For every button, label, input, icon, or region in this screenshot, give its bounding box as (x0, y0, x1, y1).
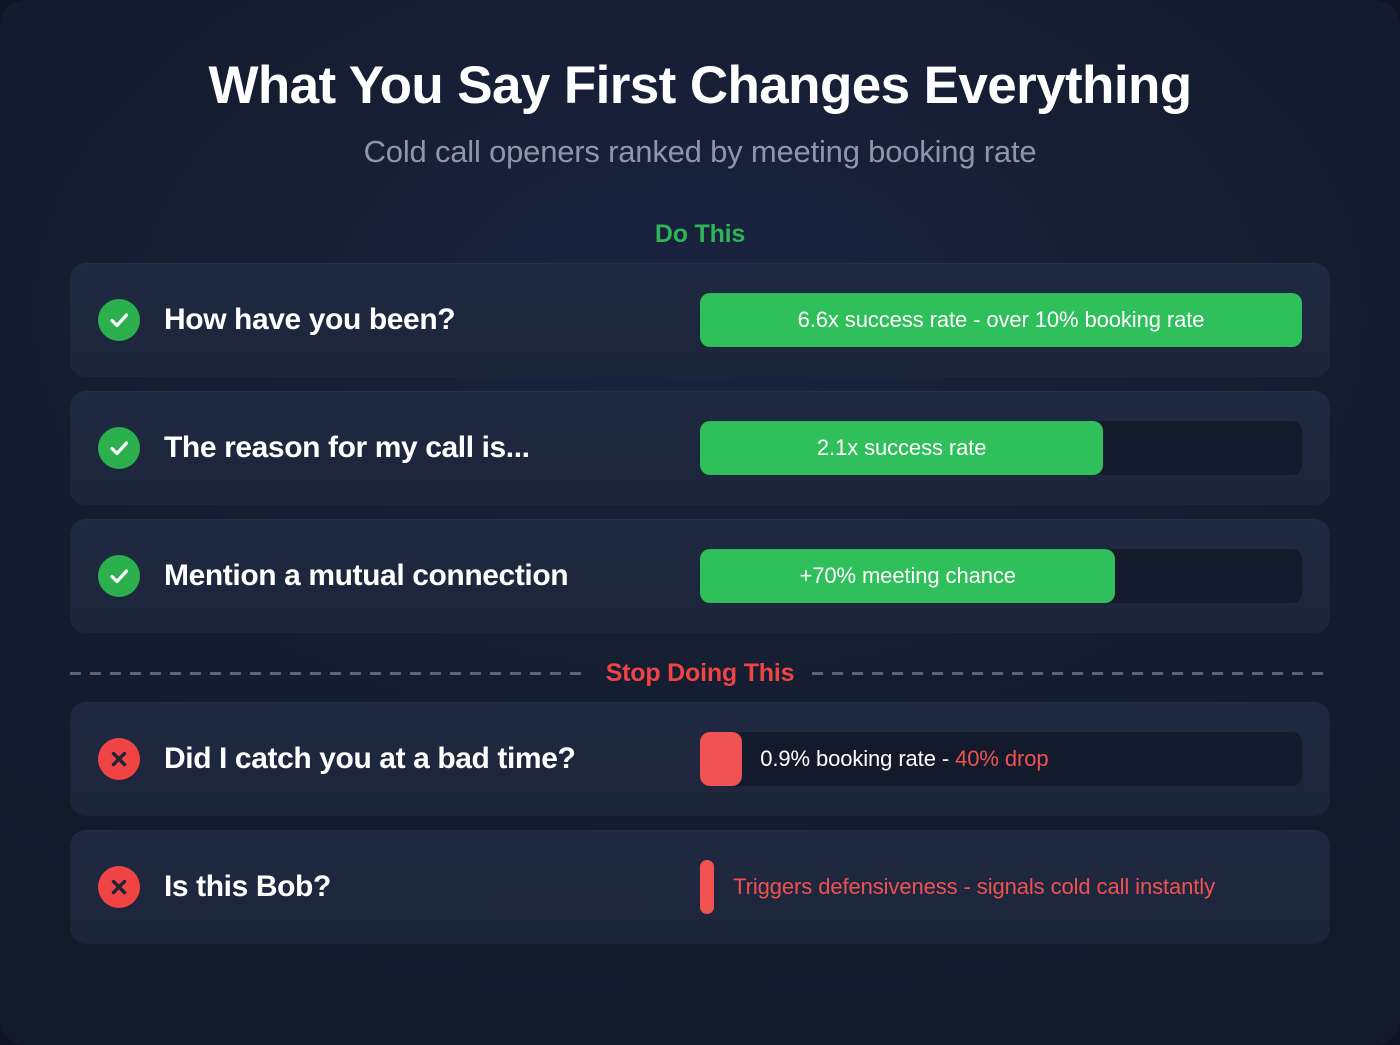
meter: 2.1x success rate (700, 421, 1302, 475)
meter-value-accent: Triggers defensiveness - signals cold ca… (733, 874, 1215, 899)
list-item[interactable]: How have you been? 6.6x success rate - o… (70, 263, 1330, 377)
page-subtitle: Cold call openers ranked by meeting book… (0, 134, 1400, 170)
opener-label: The reason for my call is... (164, 431, 530, 465)
check-circle-icon (98, 427, 140, 469)
meter-value-label: 2.1x success rate (801, 435, 1003, 461)
meter-fill: 6.6x success rate - over 10% booking rat… (700, 293, 1302, 347)
page-title: What You Say First Changes Everything (0, 58, 1400, 114)
infographic-page: What You Say First Changes Everything Co… (0, 0, 1400, 1045)
x-circle-icon (98, 866, 140, 908)
meter-fill: +70% meeting chance (700, 549, 1115, 603)
meter: Triggers defensiveness - signals cold ca… (700, 860, 1302, 914)
meter: +70% meeting chance (700, 549, 1302, 603)
meter-value-accent: 40% drop (955, 746, 1048, 771)
meter-fill (700, 732, 742, 786)
opener-label: Did I catch you at a bad time? (164, 742, 575, 776)
list-item[interactable]: Did I catch you at a bad time? 0.9% book… (70, 702, 1330, 816)
meter-value-plain: 0.9% booking rate - (760, 746, 955, 771)
meter-value-label: 0.9% booking rate - 40% drop (760, 746, 1048, 772)
meter-value-label: 6.6x success rate - over 10% booking rat… (782, 307, 1221, 333)
section-label-bad: Stop Doing This (606, 659, 795, 688)
x-circle-icon (98, 738, 140, 780)
meter-value-label: Triggers defensiveness - signals cold ca… (733, 874, 1215, 900)
divider-dash-left (70, 672, 588, 675)
meter: 0.9% booking rate - 40% drop (700, 732, 1302, 786)
check-circle-icon (98, 555, 140, 597)
meter: 6.6x success rate - over 10% booking rat… (700, 293, 1302, 347)
check-circle-icon (98, 299, 140, 341)
list-item[interactable]: Is this Bob? Triggers defensiveness - si… (70, 830, 1330, 944)
section-divider: Stop Doing This (70, 659, 1330, 688)
opener-label: How have you been? (164, 303, 455, 337)
opener-label: Is this Bob? (164, 870, 331, 904)
divider-dash-right (812, 672, 1330, 675)
list-item[interactable]: The reason for my call is... 2.1x succes… (70, 391, 1330, 505)
meter-value-label: +70% meeting chance (783, 563, 1031, 589)
bad-rows-list: Did I catch you at a bad time? 0.9% book… (70, 702, 1330, 944)
header: What You Say First Changes Everything Co… (0, 0, 1400, 170)
meter-fill (700, 860, 714, 914)
list-item[interactable]: Mention a mutual connection +70% meeting… (70, 519, 1330, 633)
meter-fill: 2.1x success rate (700, 421, 1103, 475)
opener-label: Mention a mutual connection (164, 559, 568, 593)
good-rows-list: How have you been? 6.6x success rate - o… (70, 263, 1330, 633)
section-label-good: Do This (0, 220, 1400, 249)
